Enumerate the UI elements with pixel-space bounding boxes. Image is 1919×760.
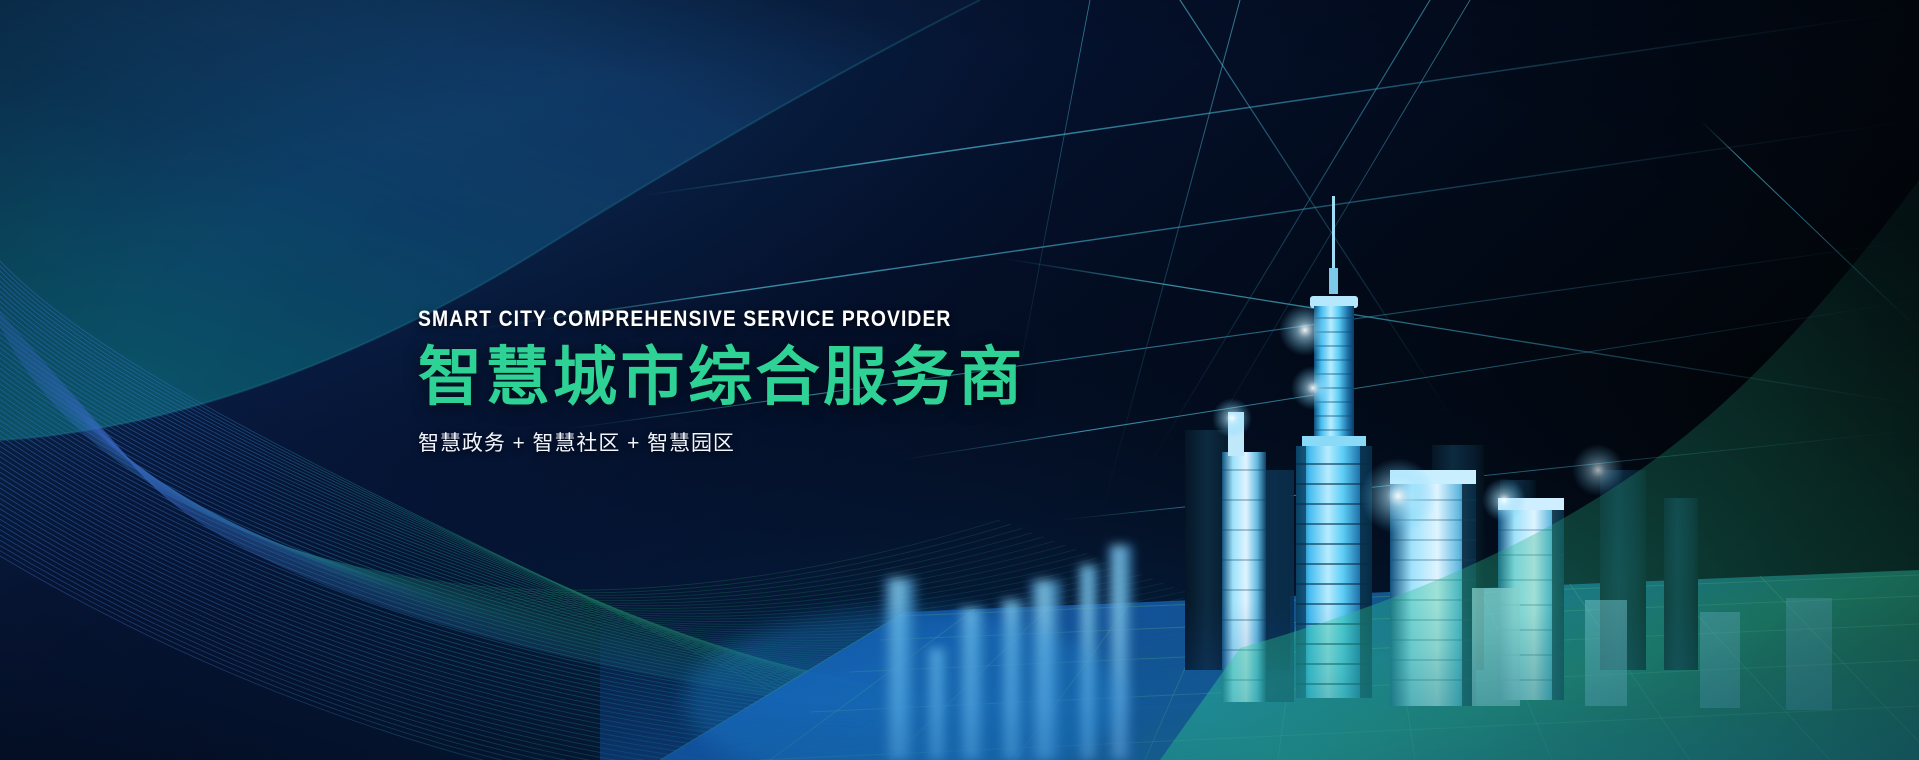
hero-headline-chinese: 智慧城市综合服务商 — [418, 344, 1026, 411]
hero-eyebrow-english: SMART CITY COMPREHENSIVE SERVICE PROVIDE… — [418, 308, 953, 330]
hero-copy-block: SMART CITY COMPREHENSIVE SERVICE PROVIDE… — [418, 308, 1026, 457]
smart-city-hero-banner: SMART CITY COMPREHENSIVE SERVICE PROVIDE… — [0, 0, 1919, 760]
hero-subline-services: 智慧政务 + 智慧社区 + 智慧园区 — [418, 427, 1026, 457]
